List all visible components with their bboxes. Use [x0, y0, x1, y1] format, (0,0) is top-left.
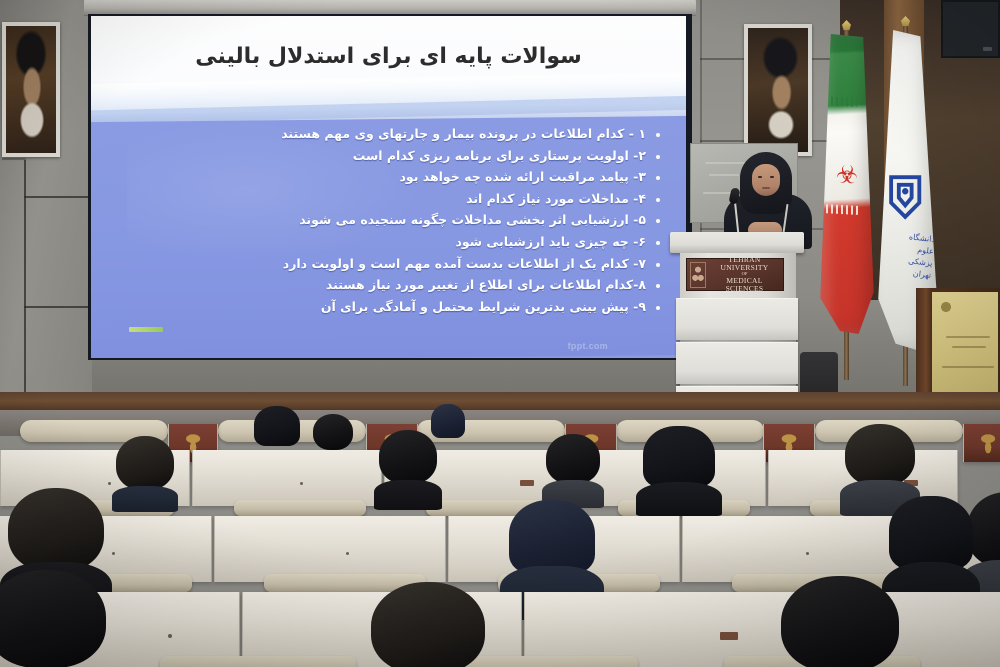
list-item: ٢- اولویت پرستاری برای برنامه ریزی کدام …	[104, 148, 664, 163]
list-item: ١ - کدام اطلاعات در پرونده بیمار و چارته…	[104, 126, 664, 141]
poster-crest-icon	[938, 300, 954, 314]
university-plaque: TEHRAN UNIVERSITY OF MEDICAL SCIENCES	[686, 258, 784, 291]
slide-title: سوالات پایه ای برای استدلال بالینی	[91, 44, 686, 69]
seat-stud	[168, 634, 172, 638]
head	[116, 436, 174, 490]
seat-back	[192, 450, 382, 506]
screen-frame: سوالات پایه ای برای استدلال بالینی ١ - ک…	[88, 14, 692, 360]
lecture-hall-photo: سوالات پایه ای برای استدلال بالینی ١ - ک…	[0, 0, 1000, 667]
university-crest-icon	[690, 262, 706, 288]
wall-seam-horizontal	[24, 306, 94, 308]
lectern-panel	[676, 298, 798, 340]
audience-member	[374, 430, 442, 510]
seat-stud	[112, 552, 115, 555]
shoulders	[636, 482, 722, 516]
head	[546, 434, 600, 484]
head	[8, 488, 104, 572]
portrait-khomeini	[2, 22, 60, 157]
seat-armrest	[234, 500, 366, 516]
mouth	[762, 187, 770, 189]
wall-monitor	[941, 0, 1000, 58]
head	[889, 496, 973, 570]
seat-stud	[806, 552, 809, 555]
plaque-line-3: MEDICAL SCIENCES	[709, 277, 780, 293]
poster-text-line	[952, 346, 986, 348]
head	[509, 500, 595, 574]
slide-logo-mark	[129, 327, 163, 332]
slide-bullet-list: ١ - کدام اطلاعات در پرونده بیمار و چارته…	[104, 126, 664, 320]
head	[781, 576, 899, 667]
head	[643, 426, 715, 488]
audience-member	[362, 582, 494, 667]
iran-emblem-icon: ☣	[832, 160, 861, 189]
wall-seam-horizontal	[2, 158, 26, 160]
audience-member	[542, 434, 604, 508]
audience-member	[250, 406, 304, 456]
list-item: ٨-کدام اطلاعات برای اطلاع از تغییر مورد …	[104, 277, 664, 292]
tums-flag-text: دانشگاه علوم پزشکی تهران	[893, 230, 935, 282]
wall-seam-horizontal	[24, 196, 94, 198]
seat-ornate-panel	[963, 424, 1000, 462]
head	[371, 582, 485, 667]
head	[254, 406, 300, 446]
list-item: ۶- چه چیزی باید ارزشیابی شود	[104, 234, 664, 249]
seat-back	[682, 516, 914, 582]
lectern-top	[670, 232, 804, 253]
audience-member	[0, 570, 116, 667]
seat-armrest	[160, 656, 356, 667]
projection-screen: سوالات پایه ای برای استدلال بالینی ١ - ک…	[88, 0, 692, 360]
audience-member	[772, 576, 908, 667]
list-item: ٧- کدام یک از اطلاعات بدست آمده مهم است …	[104, 256, 664, 271]
head	[0, 570, 106, 667]
lectern-panel	[676, 342, 798, 384]
poster-text-line	[946, 336, 990, 338]
seat-stud	[300, 482, 303, 485]
plaque-line-1: TEHRAN UNIVERSITY	[709, 256, 780, 272]
audience-member	[112, 436, 178, 508]
seat-stud	[346, 552, 349, 555]
slide-watermark: fppt.com	[568, 341, 608, 351]
head	[379, 430, 437, 484]
head	[845, 424, 915, 486]
list-item: ٩- پیش بینی بدترین شرایط محتمل و آمادگی …	[104, 299, 664, 314]
poster-text-line	[942, 366, 994, 368]
shoulders	[374, 480, 442, 510]
seat-number-tag	[720, 632, 738, 640]
audience-member	[636, 426, 722, 514]
shoulders	[112, 486, 178, 512]
audience-seating	[0, 404, 1000, 667]
seat-back	[214, 516, 446, 582]
list-item: ۵- ارزشیابی اثر بخشی مداخلات چگونه سنجید…	[104, 212, 664, 227]
flag-kufic-band	[821, 204, 860, 215]
seat-number-tag	[520, 480, 534, 486]
eye	[758, 176, 762, 178]
presenter-face	[752, 164, 780, 196]
list-item: ۴- مداخلات مورد نیاز کدام اند	[104, 191, 664, 206]
tums-logo-icon	[886, 158, 924, 236]
wall-seam-vertical	[24, 160, 26, 418]
lectern: TEHRAN UNIVERSITY OF MEDICAL SCIENCES	[676, 232, 798, 410]
eye	[770, 176, 774, 178]
seat-stud	[108, 482, 111, 485]
list-item: ٣- پیامد مراقبت ارائه شده چه خواهد بود	[104, 169, 664, 184]
presentation-slide: سوالات پایه ای برای استدلال بالینی ١ - ک…	[91, 16, 686, 358]
head	[313, 414, 353, 450]
portrait-khamenei	[744, 24, 812, 156]
